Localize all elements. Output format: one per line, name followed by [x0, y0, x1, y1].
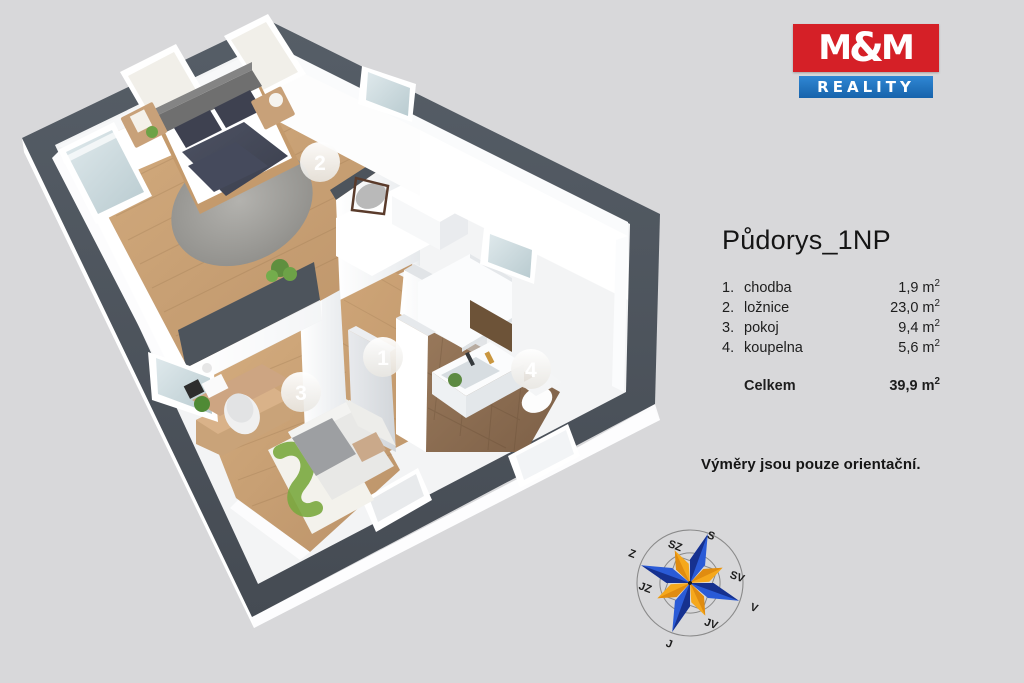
logo-ampersand: &	[849, 28, 883, 68]
legend-panel: Půdorys_1NP 1. chodba 1,9 m2 2. ložnice …	[722, 225, 952, 396]
cup-desk	[202, 363, 212, 373]
badge-3: 3	[281, 372, 321, 412]
compass-label-w: Z	[627, 547, 638, 561]
room-area-table: 1. chodba 1,9 m2 2. ložnice 23,0 m2 3. p…	[722, 278, 940, 396]
logo-m-right: M	[881, 31, 914, 65]
room-index: 2.	[722, 298, 744, 318]
room-index: 3.	[722, 318, 744, 338]
room-name: koupelna	[744, 338, 849, 358]
plant-nightstand	[146, 126, 158, 138]
room-area: 9,4 m2	[849, 318, 940, 338]
logo-mark: M&M	[793, 24, 939, 72]
floorplan-page: 2 2 1 3 4 M&M REALITY Půdorys_1NP	[0, 0, 1024, 683]
svg-text:4: 4	[525, 359, 537, 382]
floorplan-render: 2 2 1 3 4	[0, 0, 680, 660]
badge-2: 2 2	[300, 142, 340, 182]
room-area: 1,9 m2	[849, 278, 940, 298]
compass-label-s: J	[664, 637, 674, 650]
room-name: ložnice	[744, 298, 849, 318]
total-label: Celkem	[744, 358, 849, 396]
badge-1: 1	[363, 337, 403, 377]
plant-bath	[448, 373, 462, 387]
room-area: 5,6 m2	[849, 338, 940, 358]
room-name: pokoj	[744, 318, 849, 338]
room-index: 1.	[722, 278, 744, 298]
badge-4: 4	[511, 349, 551, 389]
table-row-total: Celkem 39,9 m2	[722, 358, 940, 396]
wall-bath-left	[396, 318, 428, 452]
svg-text:1: 1	[377, 347, 389, 370]
compass-label-se: JV	[703, 616, 720, 632]
table-row: 4. koupelna 5,6 m2	[722, 338, 940, 358]
table-row: 3. pokoj 9,4 m2	[722, 318, 940, 338]
compass-label-sw: JZ	[637, 580, 653, 596]
room-index: 4.	[722, 338, 744, 358]
compass-label-e: V	[749, 601, 761, 615]
disclaimer-note: Výměry jsou pouze orientační.	[701, 456, 921, 473]
vase-right	[269, 93, 283, 107]
table-row: 2. ložnice 23,0 m2	[722, 298, 940, 318]
compass-label-nw: SZ	[666, 538, 684, 554]
table-row: 1. chodba 1,9 m2	[722, 278, 940, 298]
total-area: 39,9 m2	[849, 358, 940, 396]
room-name: chodba	[744, 278, 849, 298]
page-title: Půdorys_1NP	[722, 225, 952, 256]
compass-rose: S SV V JV J JZ Z SZ	[618, 515, 768, 655]
mm-reality-logo: M&M REALITY	[793, 24, 939, 98]
plant-desk	[194, 396, 210, 412]
room-area: 23,0 m2	[849, 298, 940, 318]
logo-reality-bar: REALITY	[799, 76, 933, 98]
logo-m-left: M	[818, 31, 851, 65]
compass-label-n: S	[706, 529, 717, 543]
svg-text:3: 3	[295, 382, 307, 405]
compass-label-ne: SV	[728, 569, 747, 586]
